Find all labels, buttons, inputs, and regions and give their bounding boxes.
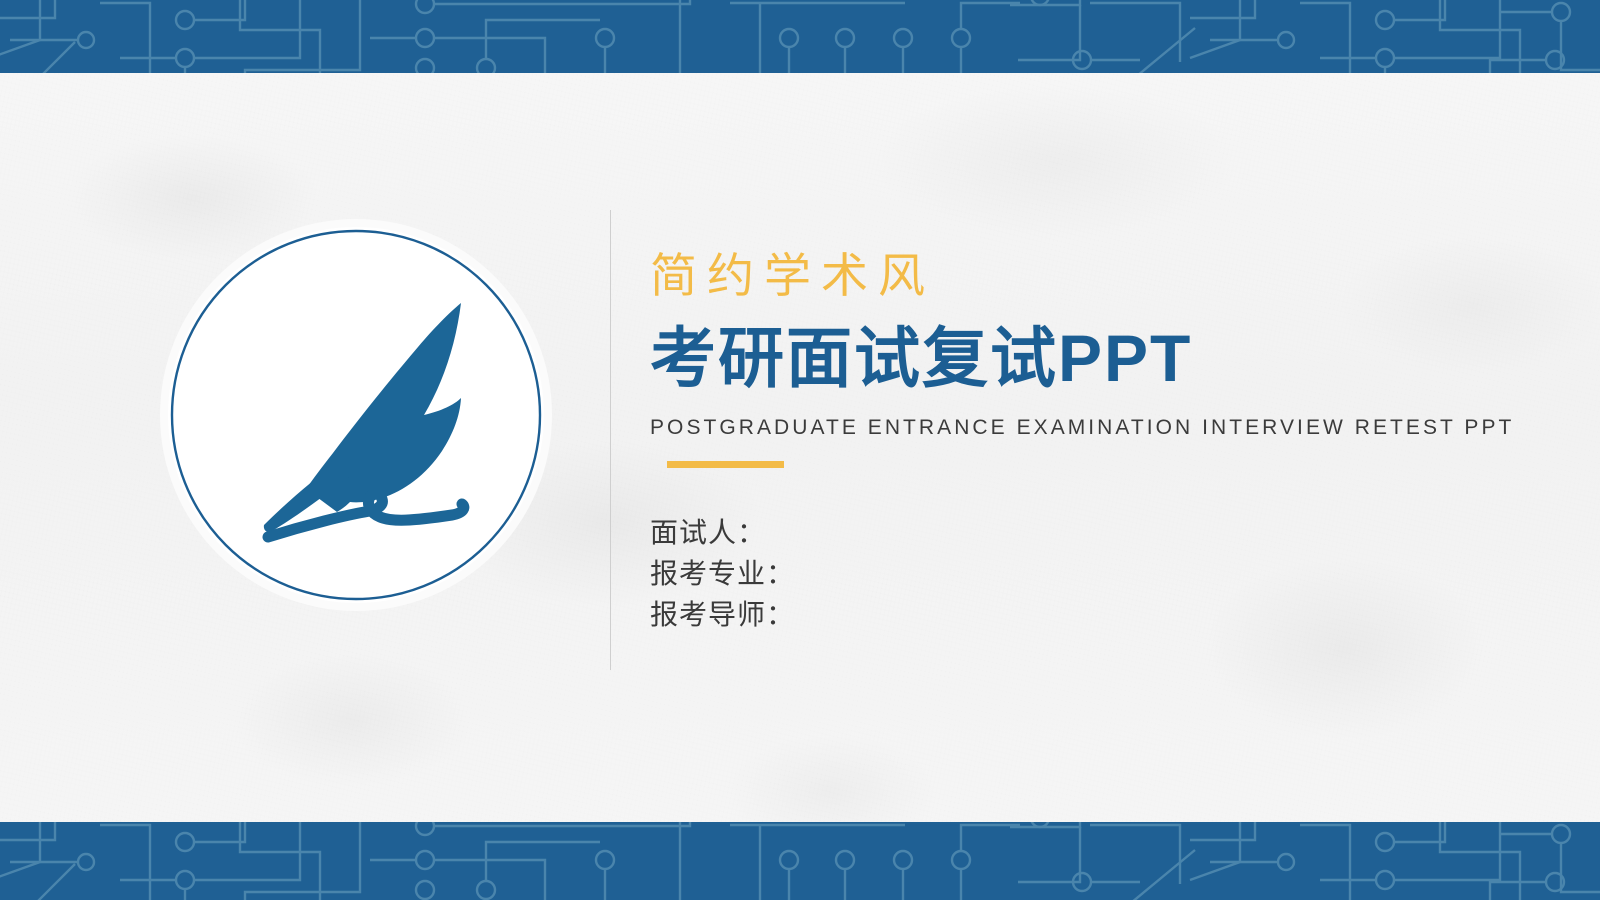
page-title: 考研面试复试PPT (650, 325, 1550, 391)
field-advisor: 报考导师： (650, 594, 1550, 635)
title-text-column: 简约学术风 考研面试复试PPT POSTGRADUATE ENTRANCE EX… (650, 252, 1550, 635)
circuit-pattern-band-top (0, 0, 1600, 73)
title-slide: 简约学术风 考研面试复试PPT POSTGRADUATE ENTRANCE EX… (0, 0, 1600, 900)
field-major: 报考专业： (650, 553, 1550, 594)
gold-accent-bar (667, 461, 784, 468)
field-interviewee: 面试人： (650, 512, 1550, 553)
field-list: 面试人： 报考专业： 报考导师： (650, 512, 1550, 635)
vertical-divider (610, 210, 611, 670)
subtitle-english: POSTGRADUATE ENTRANCE EXAMINATION INTERV… (650, 417, 1550, 438)
quill-pen-emblem (156, 215, 556, 615)
eyebrow-text: 简约学术风 (650, 252, 1550, 299)
circuit-pattern-band-bottom (0, 822, 1600, 900)
